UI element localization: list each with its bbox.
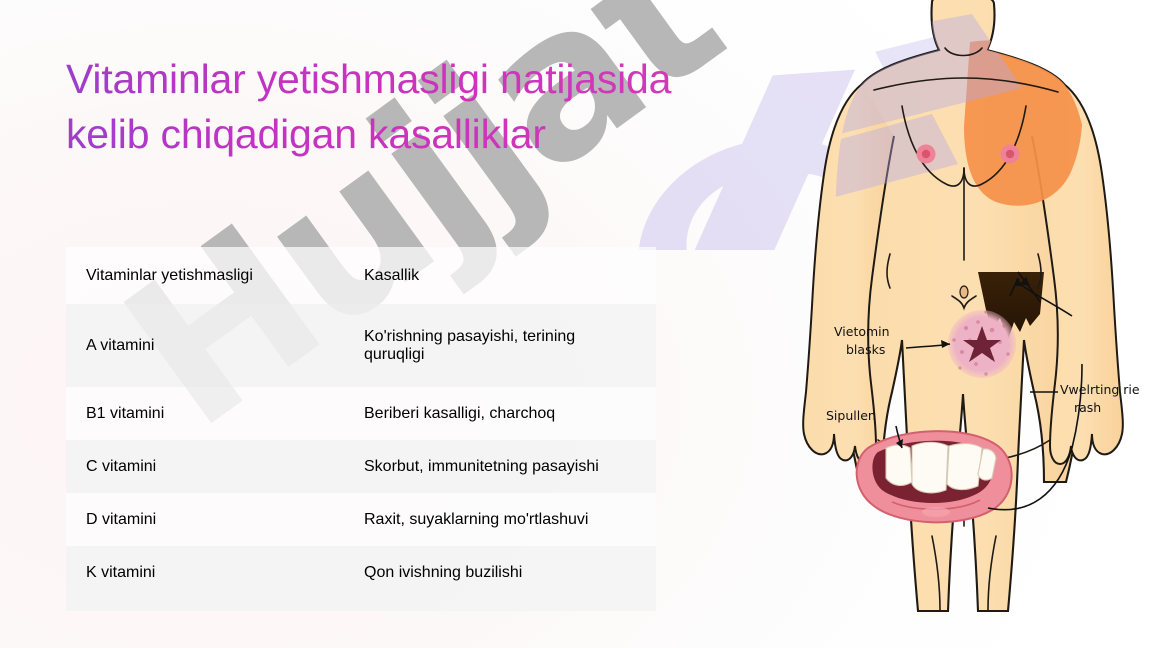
cell-disease: Ko'rishning pasayishi, terining quruqlig… [364,328,656,364]
table-row: B1 vitamini Beriberi kasalligi, charchoq [66,387,656,440]
cell-vitamin: B1 vitamini [66,405,364,423]
label-vietomin-blasks-2: blasks [846,342,885,357]
table-row: A vitamini Ko'rishning pasayishi, terini… [66,304,656,387]
cell-disease: Skorbut, immunitetning pasayishi [364,458,656,476]
table-header-row: Vitaminlar yetishmasligi Kasallik [66,247,656,304]
label-vietomin-blasks: Vietomin [834,324,890,339]
page-title: Vitaminlar yetishmasligi natijasida keli… [66,52,706,161]
table-row: C vitamini Skorbut, immunitetning pasayi… [66,440,656,493]
vitamin-deficiency-table: Vitaminlar yetishmasligi Kasallik A vita… [66,247,656,611]
label-sipullen: Sipullen [826,408,876,423]
header-cell-disease: Kasallik [364,267,656,285]
table-row: K vitamini Qon ivishning buzilishi [66,546,656,599]
table-bottom-edge [66,599,656,611]
slide-root: Vietomin blasks Vwelrting rie rash Sipul… [0,0,1152,648]
cell-disease: Qon ivishning buzilishi [364,564,656,582]
cell-vitamin: A vitamini [66,337,364,355]
cell-disease-text: Ko'rishning pasayishi, terining quruqlig… [364,328,622,364]
cell-disease: Beriberi kasalligi, charchoq [364,405,656,423]
cell-disease: Raxit, suyaklarning mo'rtlashuvi [364,511,656,529]
cell-vitamin: D vitamini [66,511,364,529]
header-cell-vitamin: Vitaminlar yetishmasligi [66,267,364,285]
human-torso-illustration: Vietomin blasks Vwelrting rie rash Sipul… [782,0,1152,621]
label-welting-rash: Vwelrting rie [1060,382,1140,397]
cell-vitamin: K vitamini [66,564,364,582]
table-row: D vitamini Raxit, suyaklarning mo'rtlash… [66,493,656,546]
label-welting-rash-2: rash [1074,400,1101,415]
cell-vitamin: C vitamini [66,458,364,476]
